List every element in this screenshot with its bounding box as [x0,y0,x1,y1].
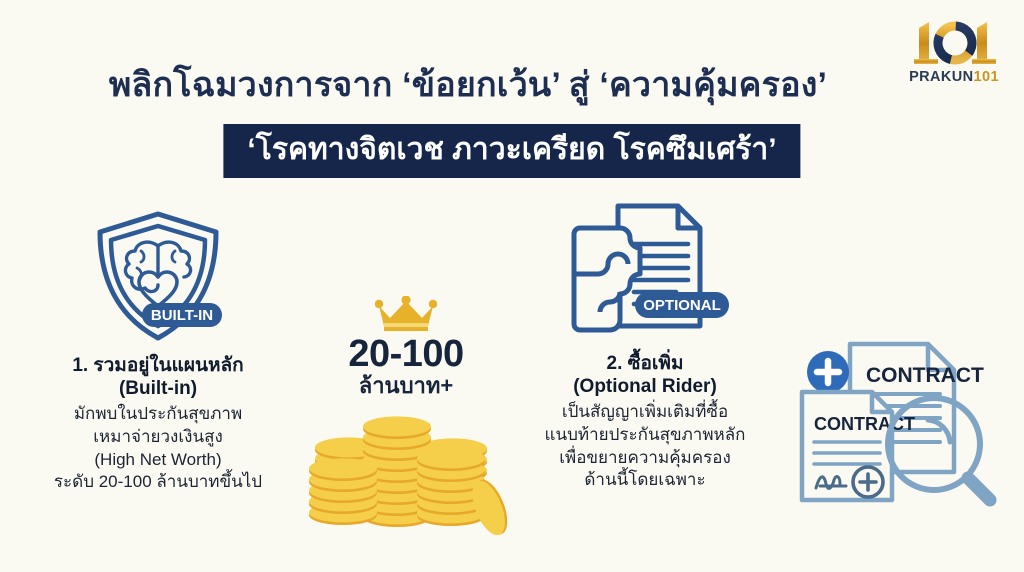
page-subtitle-banner: ‘โรคทางจิตเวช ภาวะเครียด โรคซึมเศร้า’ [223,124,800,178]
page-title: พลิกโฉมวงการจาก ‘ข้อยกเว้น’ สู่ ‘ความคุ้… [0,66,1024,105]
money-amount: 20-100 [296,335,516,373]
body-line: ระดับ 20-100 ล้านบาทขึ้นไป [14,471,302,494]
crown-icon [296,296,516,332]
puzzle-document-icon: OPTIONAL [500,200,790,346]
column-optional-rider-text: 2. ซื้อเพิ่ม (Optional Rider) เป็นสัญญาเ… [500,352,790,492]
back-contract-label: CONTRACT [866,364,984,387]
body-line: เพื่อขยายความคุ้มครอง [500,447,790,470]
body-line: เหมาจ่ายวงเงินสูง [14,426,302,449]
built-in-badge-label: BUILT-IN [151,307,213,324]
column-built-in: BUILT-IN 1. รวมอยู่ในแผนหลัก (Built-in) … [14,206,302,494]
optional-badge-label: OPTIONAL [643,297,721,314]
contracts-magnifier-icon: CONTRACT CONTRACT [788,336,1020,526]
column-built-in-body: มักพบในประกันสุขภาพ เหมาจ่ายวงเงินสูง (H… [14,403,302,493]
money-highlight: 20-100 ล้านบาท+ [296,296,516,535]
column-built-in-heading: 1. รวมอยู่ในแผนหลัก (Built-in) [14,354,302,400]
money-unit: ล้านบาท+ [296,375,516,397]
heading-line: (Built-in) [14,377,302,400]
infographic-canvas: PRAKUN101 พลิกโฉมวงการจาก ‘ข้อยกเว้น’ สู… [0,0,1024,572]
column-built-in-text: 1. รวมอยู่ในแผนหลัก (Built-in) มักพบในปร… [14,354,302,494]
column-optional-rider-heading: 2. ซื้อเพิ่ม (Optional Rider) [500,352,790,398]
column-optional-rider: OPTIONAL 2. ซื้อเพิ่ม (Optional Rider) เ… [500,200,790,492]
shield-brain-heart-icon: BUILT-IN [14,206,302,346]
body-line: เป็นสัญญาเพิ่มเติมที่ซื้อ [500,401,790,424]
heading-line: 2. ซื้อเพิ่ม [500,352,790,375]
body-line: มักพบในประกันสุขภาพ [14,403,302,426]
prakun101-logo-icon [911,14,997,68]
body-line: แนบท้ายประกันสุขภาพหลัก [500,424,790,447]
heading-line: 1. รวมอยู่ในแผนหลัก [14,354,302,377]
body-line: (High Net Worth) [14,449,302,472]
column-optional-rider-body: เป็นสัญญาเพิ่มเติมที่ซื้อ แนบท้ายประกันส… [500,401,790,491]
gold-coin-stacks-icon [296,403,516,535]
body-line: ด้านนี้โดยเฉพาะ [500,469,790,492]
heading-line: (Optional Rider) [500,375,790,398]
